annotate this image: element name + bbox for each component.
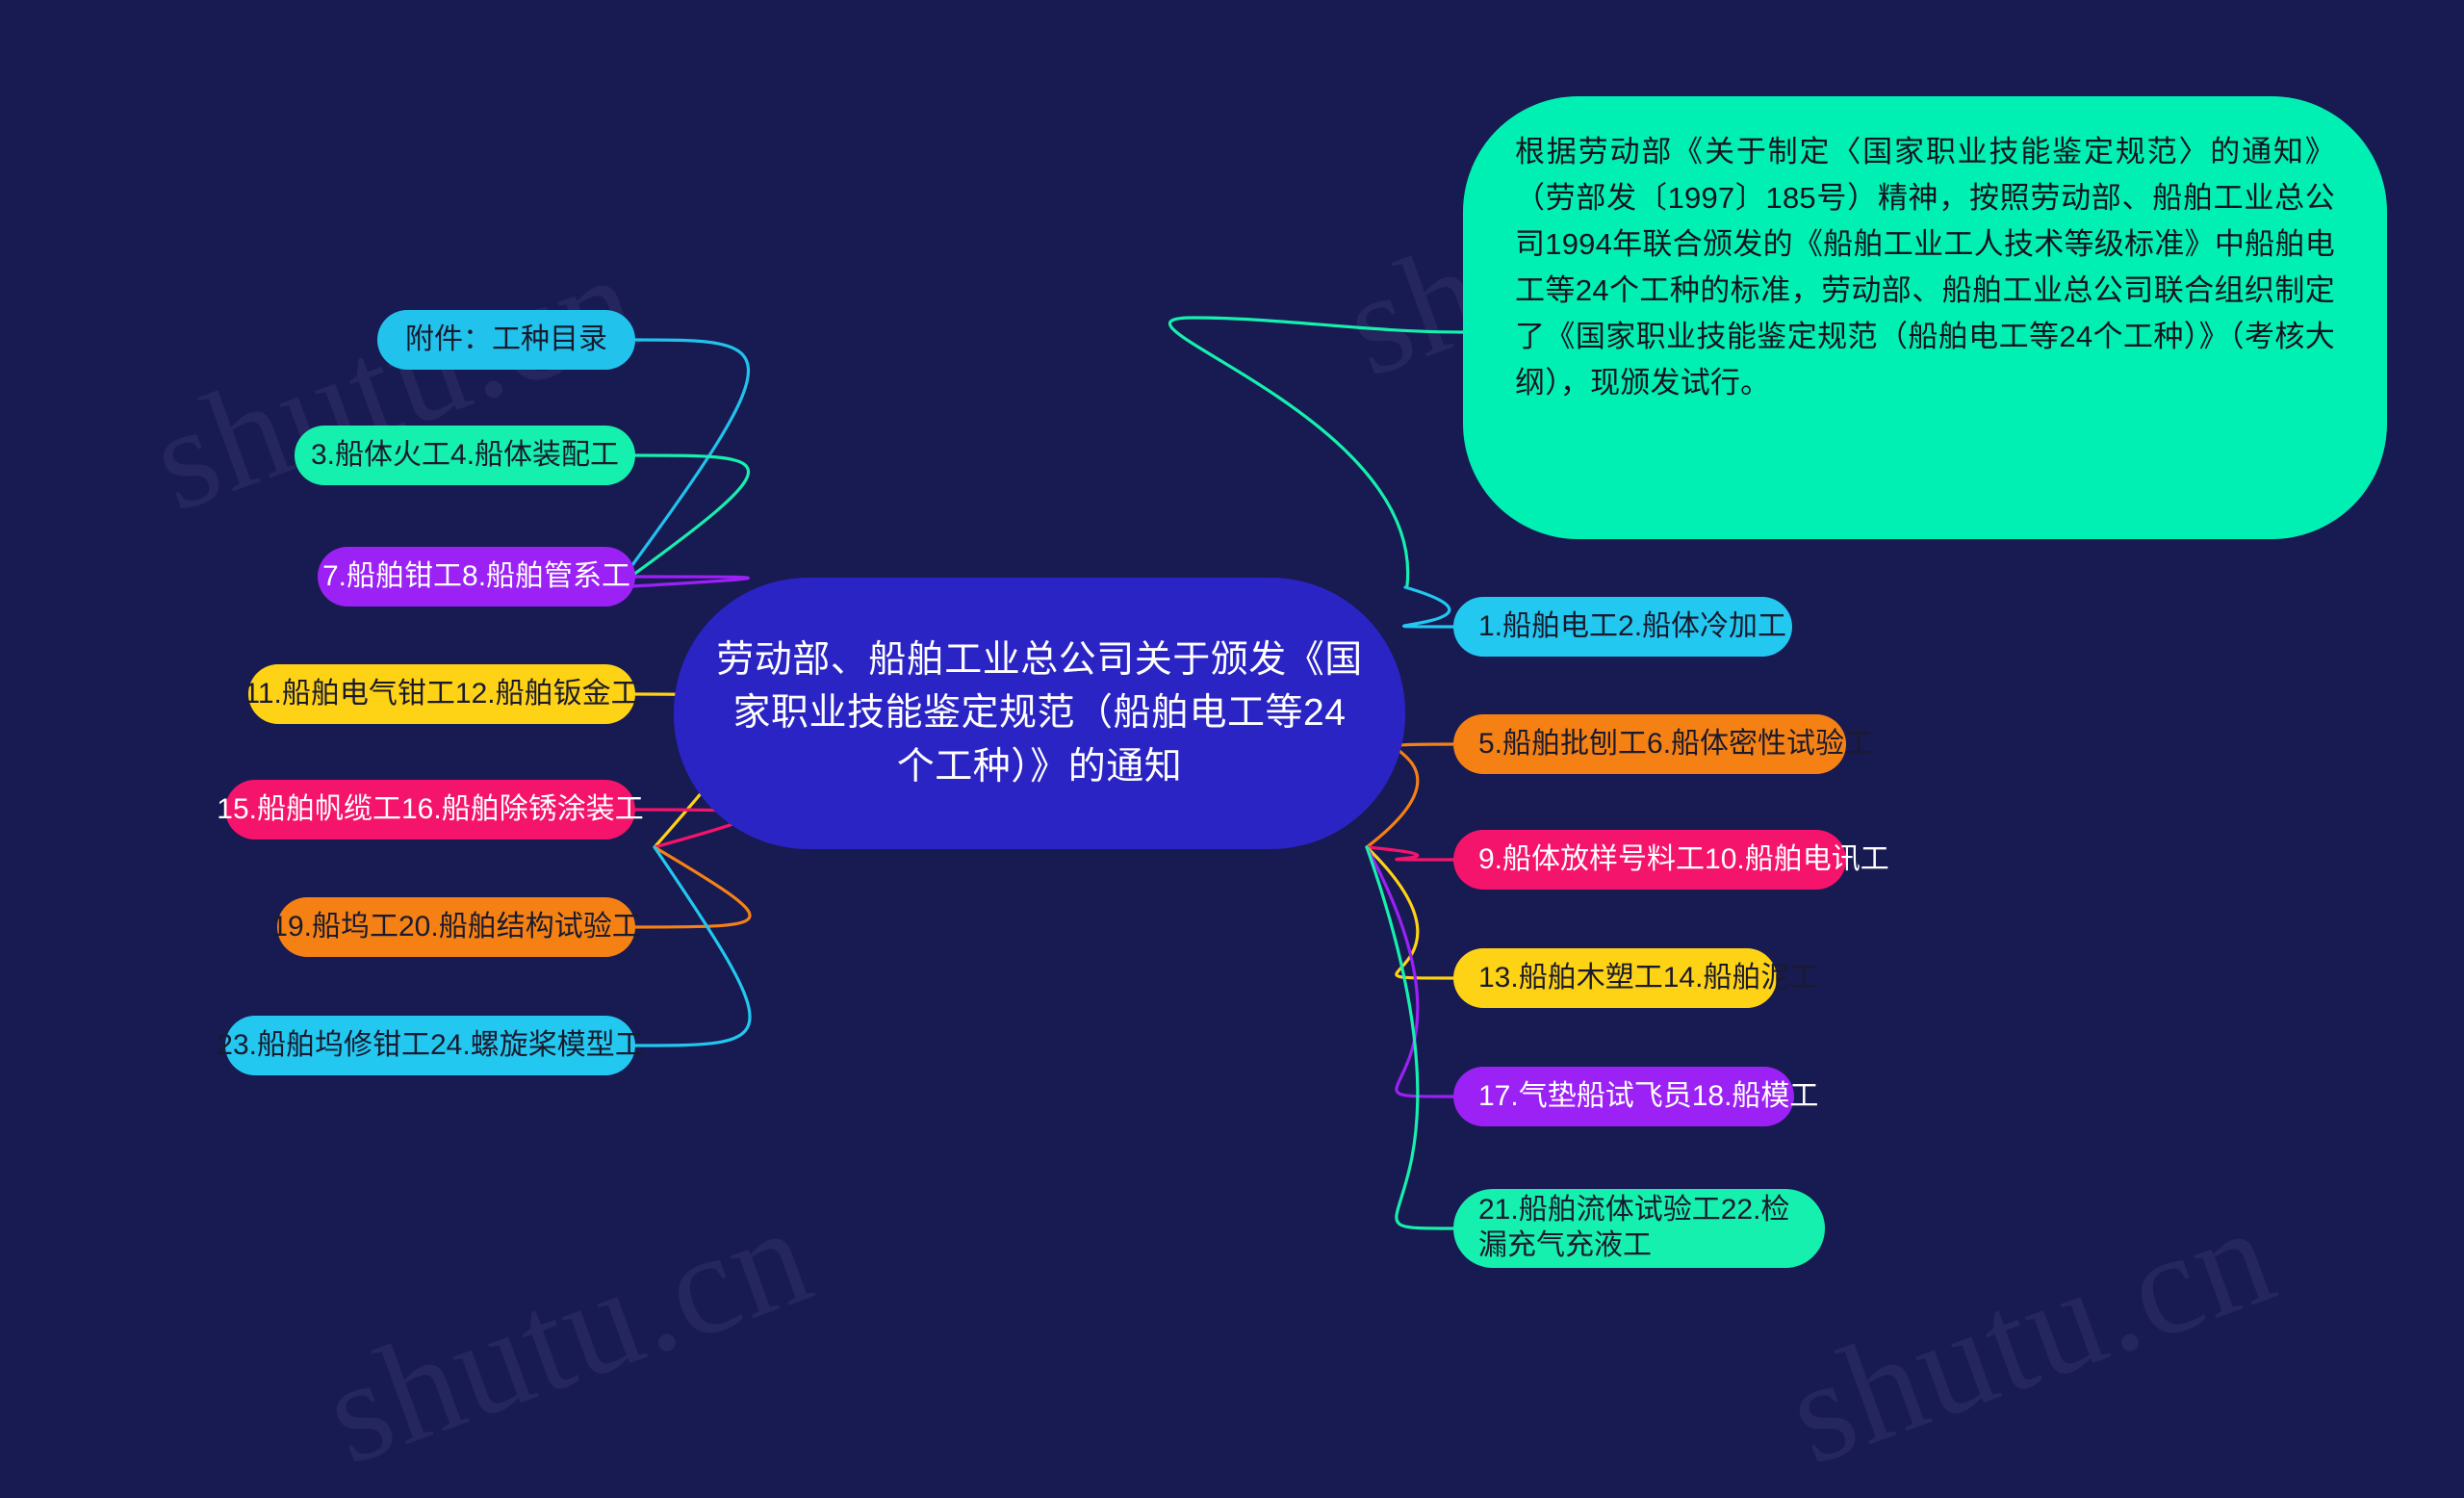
connector-line — [616, 340, 749, 587]
branch-node[interactable]: 3.船体火工4.船体装配工 — [295, 426, 635, 485]
watermark: shutu.cn — [304, 1171, 832, 1498]
branch-node-label: 17.气垫船试飞员18.船模工 — [1478, 1079, 1818, 1115]
branch-node[interactable]: 5.船舶批刨工6.船体密性试验工 — [1453, 714, 1846, 774]
connector-line — [1404, 587, 1453, 627]
central-topic-label: 劳动部、船舶工业总公司关于颁发《国家职业技能鉴定规范（船舶电工等24个工种）》的… — [716, 633, 1363, 793]
branch-node-label: 23.船舶坞修钳工24.螺旋桨模型工 — [217, 1028, 643, 1064]
connector-line — [1367, 847, 1453, 978]
branch-node[interactable]: 7.船舶钳工8.船舶管系工 — [318, 547, 635, 607]
connector-line — [1367, 847, 1453, 860]
connector-line — [616, 455, 749, 587]
branch-node-label: 5.船舶批刨工6.船体密性试验工 — [1478, 727, 1873, 762]
branch-node-label: 3.船体火工4.船体装配工 — [311, 438, 619, 474]
connector-line — [635, 847, 750, 1046]
connector-line — [1367, 847, 1453, 1228]
connector-line — [616, 577, 749, 587]
branch-node[interactable]: 15.船舶帆缆工16.船舶除锈涂装工 — [225, 780, 635, 839]
branch-node[interactable]: 21.船舶流体试验工22.检漏充气充液工 — [1453, 1189, 1825, 1268]
summary-note-label: 根据劳动部《关于制定〈国家职业技能鉴定规范〉的通知》（劳部发〔1997〕185号… — [1515, 129, 2335, 406]
watermark: shutu.cn — [131, 218, 658, 545]
branch-node-label: 15.船舶帆缆工16.船舶除锈涂装工 — [217, 792, 643, 828]
watermark: shutu.cn — [1767, 1171, 2295, 1498]
branch-node[interactable]: 23.船舶坞修钳工24.螺旋桨模型工 — [225, 1016, 635, 1075]
connector-line — [635, 847, 750, 927]
branch-node-label: 19.船坞工20.船舶结构试验工 — [271, 910, 640, 945]
connector-line — [1169, 318, 1463, 585]
connector-line — [1367, 847, 1453, 1097]
branch-node[interactable]: 1.船舶电工2.船体冷加工 — [1453, 597, 1792, 657]
branch-node-label: 11.船舶电气钳工12.船舶钣金工 — [244, 677, 639, 712]
mindmap-canvas: shutu.cn shutu.cn shutu.cn shutu.cn 劳动部、… — [0, 0, 2464, 1416]
central-topic[interactable]: 劳动部、船舶工业总公司关于颁发《国家职业技能鉴定规范（船舶电工等24个工种）》的… — [674, 578, 1405, 849]
branch-node-label: 7.船舶钳工8.船舶管系工 — [322, 559, 630, 595]
branch-node-label: 1.船舶电工2.船体冷加工 — [1478, 609, 1786, 645]
branch-node[interactable]: 9.船体放样号料工10.船舶电讯工 — [1453, 830, 1846, 890]
branch-node[interactable]: 11.船舶电气钳工12.船舶钣金工 — [248, 664, 635, 724]
summary-note[interactable]: 根据劳动部《关于制定〈国家职业技能鉴定规范〉的通知》（劳部发〔1997〕185号… — [1463, 96, 2387, 539]
branch-node[interactable]: 13.船舶木塑工14.船舶泥工 — [1453, 948, 1777, 1008]
branch-node[interactable]: 19.船坞工20.船舶结构试验工 — [277, 897, 635, 957]
branch-node-label: 9.船体放样号料工10.船舶电讯工 — [1478, 842, 1889, 878]
branch-node-label: 附件：工种目录 — [405, 323, 607, 358]
branch-node-label: 13.船舶木塑工14.船舶泥工 — [1478, 961, 1818, 996]
branch-node[interactable]: 附件：工种目录 — [377, 310, 635, 370]
branch-node[interactable]: 17.气垫船试飞员18.船模工 — [1453, 1067, 1794, 1126]
branch-node-label: 21.船舶流体试验工22.检漏充气充液工 — [1478, 1193, 1800, 1263]
